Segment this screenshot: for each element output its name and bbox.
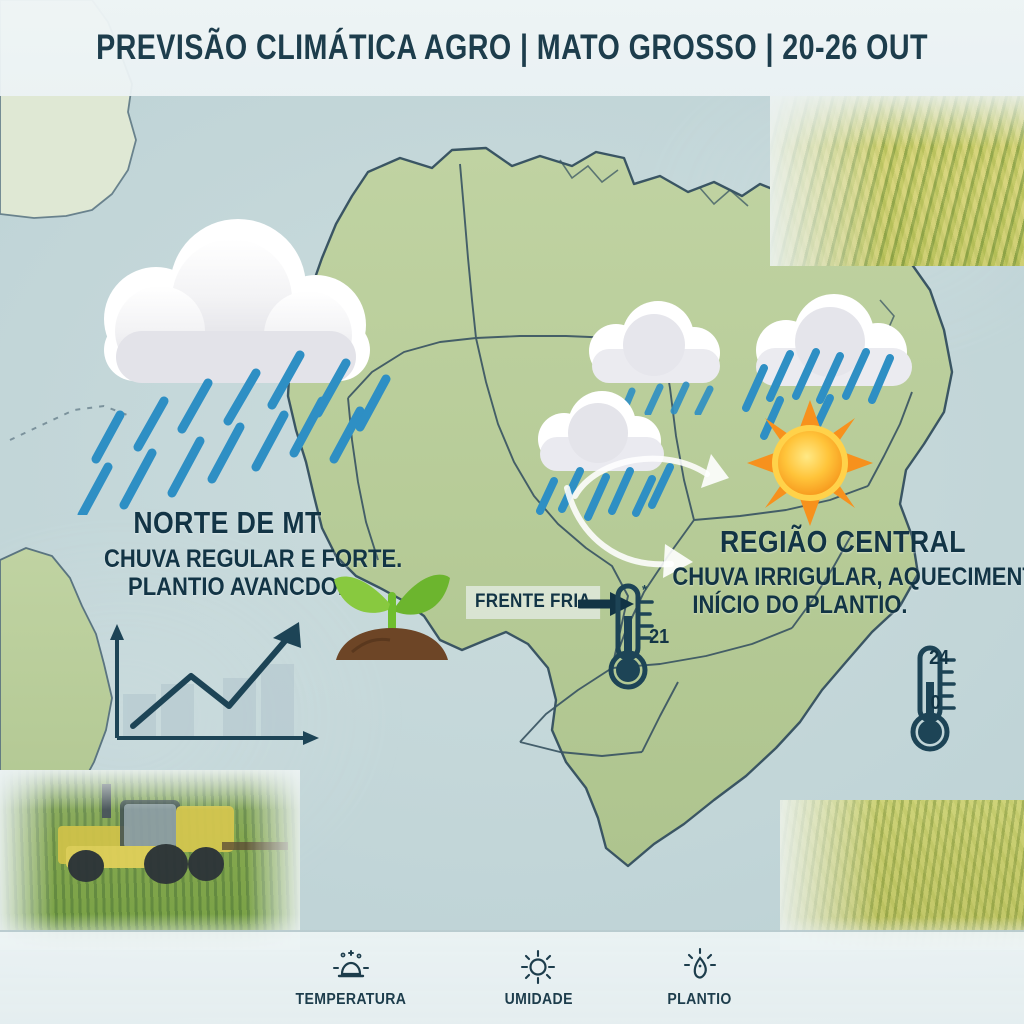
footer-label-plantio: PLANTIO [668,991,732,1009]
region-subtitle-central-line2: INÍCIO DO PLANTIO. [672,591,927,620]
seedling-leaf-left [334,576,390,612]
cloud-shape [104,219,370,383]
footer-label-temperatura: TEMPERATURA [295,991,406,1009]
footer-item-plantio[interactable]: PLANTIO [663,948,736,1009]
sun-icon-central-region [745,398,875,528]
footer-item-umidade[interactable]: UMIDADE [500,948,577,1009]
chart-trend-arrow [273,622,301,648]
sun-icon [517,948,559,984]
combine-harvester-icon [0,770,300,950]
seedling-soil [336,628,448,660]
photo-soybean-field-top-right [770,96,1024,266]
cloud-shape [589,301,720,383]
page-title: PREVISÃO CLIMÁTICA AGRO | MATO GROSSO | … [92,0,932,96]
header-band: PREVISÃO CLIMÁTICA AGRO | MATO GROSSO | … [0,0,1024,96]
footer-legend-bar: TEMPERATURA UMIDADE [0,930,1024,1024]
seedling-leaf-right [396,575,450,615]
seedling-icon [322,548,462,670]
thermometer-sun-icon [330,948,372,984]
seed-drop-icon [679,948,721,984]
region-subtitle-central-line1: CHUVA IRRIGULAR, AQUECIMENTO. [672,563,927,592]
footer-label-umidade: UMIDADE [504,991,572,1009]
footer-item-temperatura[interactable]: TEMPERATURA [288,948,414,1009]
chart-bars [123,664,294,736]
rain-cloud-icon-north [60,215,400,515]
svg-text:*: * [642,582,648,597]
thermometer-east-value-bottom: 0 [931,692,941,715]
thermometer-central-value: 21 [649,626,669,649]
region-title-norte-mt: NORTE DE MT [133,505,321,541]
chart-x-arrow [303,731,319,745]
growth-chart-icon [95,612,335,767]
region-title-central: REGIÃO CENTRAL [720,524,966,560]
sun-disc [778,431,842,495]
infographic-canvas: PREVISÃO CLIMÁTICA AGRO | MATO GROSSO | … [0,0,1024,1024]
thermometer-east-value-top: 24 [929,647,949,670]
photo-harvester-bottom-left [0,770,300,950]
photo-crop-field-bottom-right [780,800,1024,950]
chart-y-arrow [110,624,124,640]
